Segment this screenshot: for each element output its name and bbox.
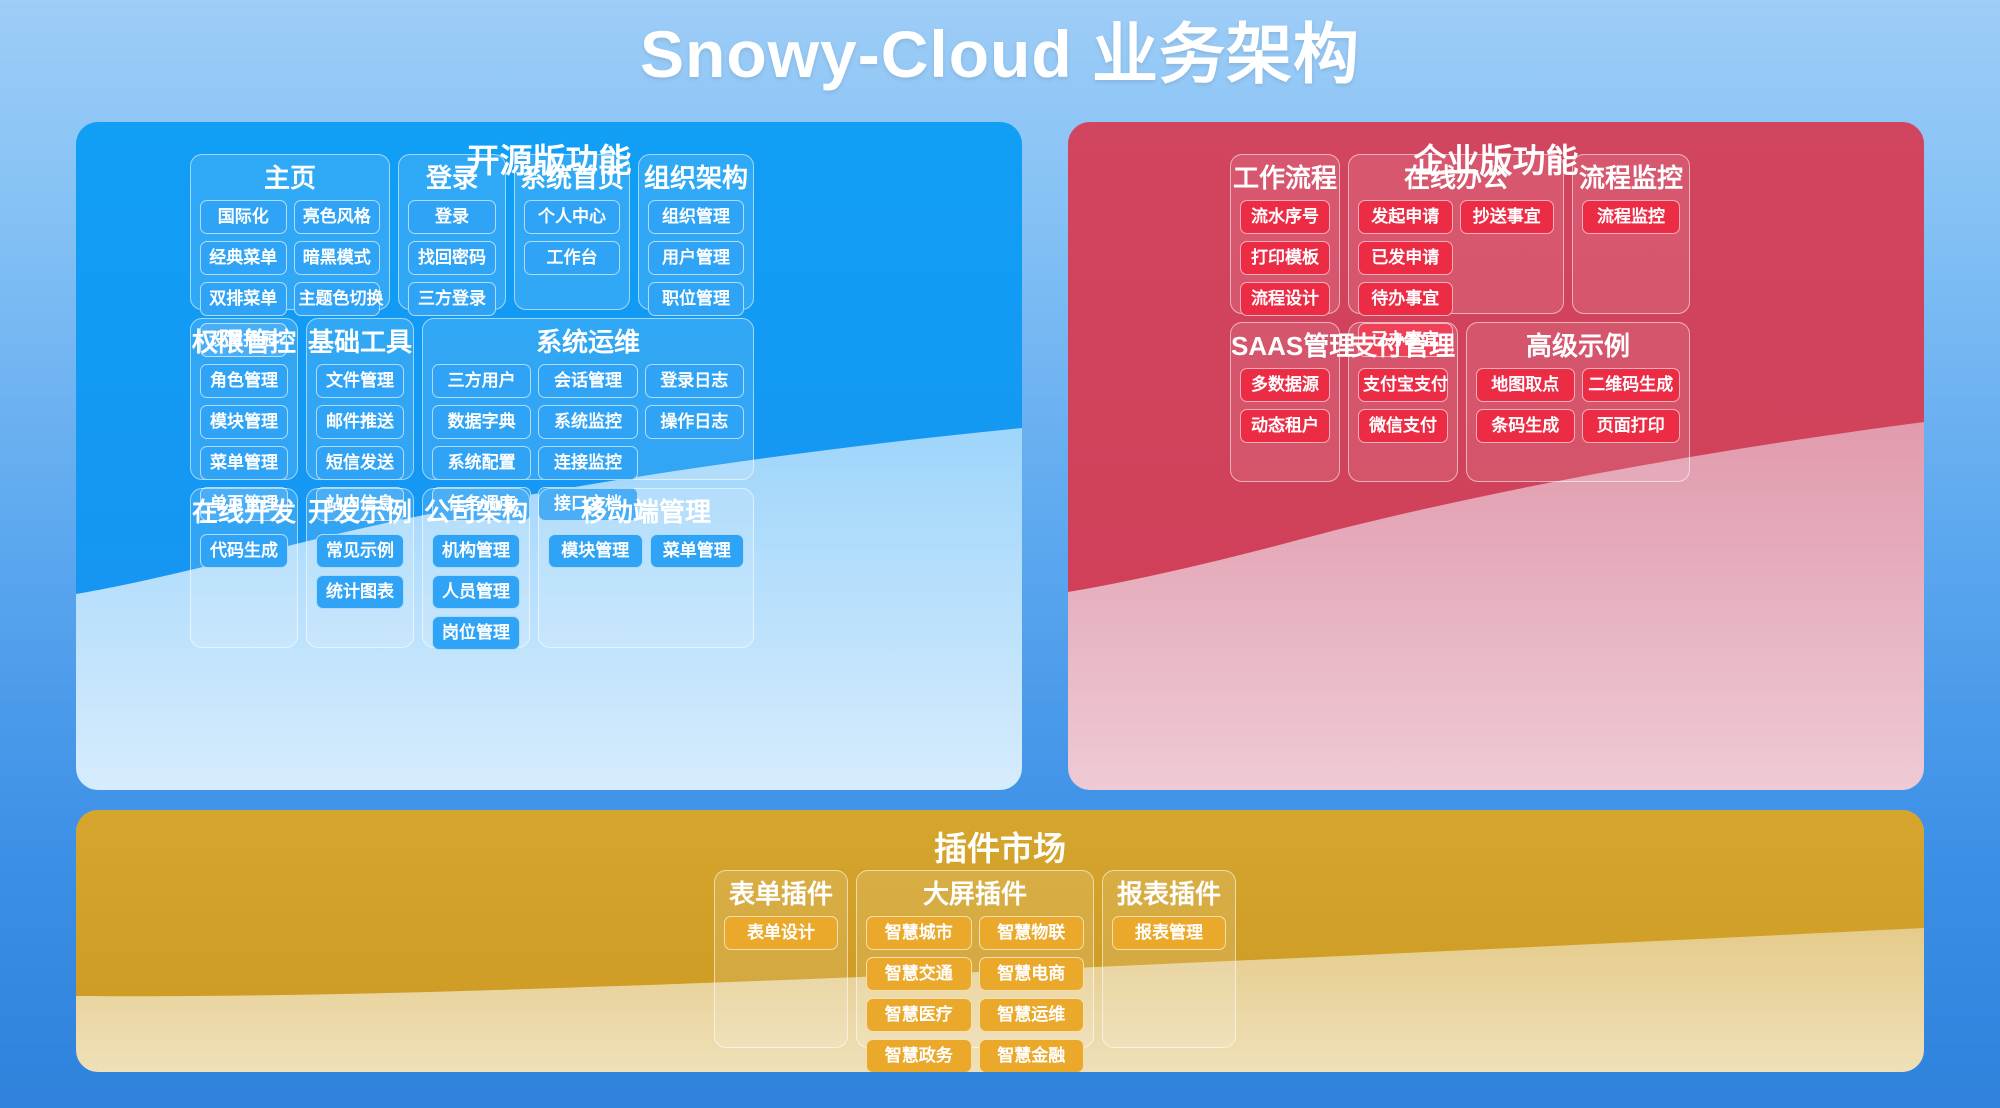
group-title-form-plugin: 表单插件 [715, 871, 847, 916]
feature-item[interactable]: 模块管理 [548, 534, 643, 568]
group-title-online-dev: 在线开发 [191, 489, 297, 534]
feature-item[interactable]: 条码生成 [1476, 409, 1575, 443]
group-title-online-office: 在线办公 [1349, 155, 1563, 200]
feature-item[interactable]: 微信支付 [1358, 409, 1448, 443]
group-title-process-monitor: 流程监控 [1573, 155, 1689, 200]
group-items-mobile-admin: 模块管理菜单管理 [539, 534, 753, 577]
group-card-org-structure: 组织架构 组织管理用户管理职位管理 [638, 154, 754, 310]
group-card-saas: SAAS管理 多数据源动态租户 [1230, 322, 1340, 482]
feature-item[interactable]: 个人中心 [524, 200, 620, 234]
page-title: Snowy-Cloud 业务架构 [0, 8, 2000, 100]
feature-item[interactable]: 统计图表 [316, 575, 404, 609]
group-title-permission: 权限管控 [191, 319, 297, 364]
feature-item[interactable]: 智慧交通 [866, 957, 972, 991]
panel-open-source: 开源版功能 主页 国际化亮色风格经典菜单暗黑模式双排菜单主题色切换设置抽屉 登录… [76, 122, 1022, 790]
feature-item[interactable]: 三方登录 [408, 282, 496, 316]
feature-item[interactable]: 表单设计 [724, 916, 838, 950]
group-title-payment: 支付管理 [1349, 323, 1457, 368]
feature-item[interactable]: 智慧政务 [866, 1039, 972, 1072]
feature-item[interactable]: 三方用户 [432, 364, 531, 398]
group-card-payment: 支付管理 支付宝支付微信支付 [1348, 322, 1458, 482]
feature-item[interactable]: 数据字典 [432, 405, 531, 439]
feature-item[interactable]: 流程监控 [1582, 200, 1680, 234]
feature-item[interactable]: 代码生成 [200, 534, 288, 568]
group-card-basic-tools: 基础工具 文件管理邮件推送短信发送站内信息 [306, 318, 414, 480]
group-card-form-plugin: 表单插件 表单设计 [714, 870, 848, 1048]
feature-item[interactable]: 流水序号 [1240, 200, 1330, 234]
group-card-workflow: 工作流程 流水序号打印模板流程设计 [1230, 154, 1340, 314]
group-title-advanced-demo: 高级示例 [1467, 323, 1689, 368]
group-items-process-monitor: 流程监控 [1573, 200, 1689, 243]
feature-item[interactable]: 智慧医疗 [866, 998, 972, 1032]
group-card-report-plugin: 报表插件 报表管理 [1102, 870, 1236, 1048]
feature-item[interactable]: 连接监控 [538, 446, 637, 480]
feature-item[interactable]: 流程设计 [1240, 282, 1330, 316]
feature-item[interactable]: 国际化 [200, 200, 287, 234]
group-title-org-structure: 组织架构 [639, 155, 753, 200]
group-items-dev-demo: 常见示例统计图表 [307, 534, 413, 618]
feature-item[interactable]: 邮件推送 [316, 405, 404, 439]
feature-item[interactable]: 经典菜单 [200, 241, 287, 275]
group-items-org-structure: 组织管理用户管理职位管理 [639, 200, 753, 325]
group-title-saas: SAAS管理 [1231, 323, 1339, 368]
feature-item[interactable]: 支付宝支付 [1358, 368, 1448, 402]
group-card-advanced-demo: 高级示例 地图取点二维码生成条码生成页面打印 [1466, 322, 1690, 482]
group-card-permission: 权限管控 角色管理模块管理菜单管理单页管理 [190, 318, 298, 480]
group-card-home: 主页 国际化亮色风格经典菜单暗黑模式双排菜单主题色切换设置抽屉 [190, 154, 390, 310]
group-card-online-office: 在线办公 发起申请抄送事宜已发申请.待办事宜.已办事宜. [1348, 154, 1564, 314]
group-card-system-ops: 系统运维 三方用户会话管理登录日志数据字典系统监控操作日志系统配置连接监控.任务… [422, 318, 754, 480]
group-title-workflow: 工作流程 [1231, 155, 1339, 200]
feature-item[interactable]: 智慧运维 [979, 998, 1085, 1032]
feature-item[interactable]: 会话管理 [538, 364, 637, 398]
group-title-company-structure: 公司架构 [423, 489, 529, 534]
group-items-workflow: 流水序号打印模板流程设计 [1231, 200, 1339, 325]
feature-item[interactable]: 报表管理 [1112, 916, 1226, 950]
feature-item[interactable]: 打印模板 [1240, 241, 1330, 275]
group-items-screen-plugin: 智慧城市智慧物联智慧交通智慧电商智慧医疗智慧运维智慧政务智慧金融 [857, 916, 1093, 1072]
group-card-system-home: 系统首页 个人中心工作台 [514, 154, 630, 310]
feature-item[interactable]: 职位管理 [648, 282, 744, 316]
group-items-saas: 多数据源动态租户 [1231, 368, 1339, 452]
feature-item[interactable]: 暗黑模式 [294, 241, 381, 275]
group-title-mobile-admin: 移动端管理 [539, 489, 753, 534]
feature-item[interactable]: 智慧金融 [979, 1039, 1085, 1072]
group-items-advanced-demo: 地图取点二维码生成条码生成页面打印 [1467, 368, 1689, 452]
feature-item[interactable]: 系统配置 [432, 446, 531, 480]
group-title-report-plugin: 报表插件 [1103, 871, 1235, 916]
feature-item[interactable]: 智慧城市 [866, 916, 972, 950]
feature-item[interactable]: 双排菜单 [200, 282, 287, 316]
feature-item[interactable]: 菜单管理 [650, 534, 745, 568]
feature-item[interactable]: 页面打印 [1582, 409, 1681, 443]
panel-plugin-market: 插件市场 表单插件 表单设计 大屏插件 智慧城市智慧物联智慧交通智慧电商智慧医疗… [76, 810, 1924, 1072]
feature-item[interactable]: 多数据源 [1240, 368, 1330, 402]
feature-item[interactable]: 菜单管理 [200, 446, 288, 480]
feature-item[interactable]: 发起申请 [1358, 200, 1453, 234]
group-items-payment: 支付宝支付微信支付 [1349, 368, 1457, 452]
feature-item[interactable]: 找回密码 [408, 241, 496, 275]
group-card-online-dev: 在线开发 代码生成 [190, 488, 298, 648]
group-card-dev-demo: 开发示例 常见示例统计图表 [306, 488, 414, 648]
feature-item[interactable]: 登录 [408, 200, 496, 234]
group-items-company-structure: 机构管理人员管理岗位管理 [423, 534, 529, 659]
group-items-online-dev: 代码生成 [191, 534, 297, 577]
feature-item[interactable]: 动态租户 [1240, 409, 1330, 443]
feature-item[interactable]: 模块管理 [200, 405, 288, 439]
feature-item[interactable]: 二维码生成 [1582, 368, 1681, 402]
feature-item[interactable]: 亮色风格 [294, 200, 381, 234]
group-title-basic-tools: 基础工具 [307, 319, 413, 364]
feature-item[interactable]: 主题色切换 [294, 282, 381, 316]
feature-item[interactable]: 机构管理 [432, 534, 520, 568]
group-card-mobile-admin: 移动端管理 模块管理菜单管理 [538, 488, 754, 648]
group-items-login: 登录找回密码三方登录 [399, 200, 505, 325]
group-title-screen-plugin: 大屏插件 [857, 871, 1093, 916]
group-items-report-plugin: 报表管理 [1103, 916, 1235, 959]
feature-item[interactable]: 用户管理 [648, 241, 744, 275]
feature-item[interactable]: 登录日志 [645, 364, 744, 398]
feature-item[interactable]: 地图取点 [1476, 368, 1575, 402]
group-title-system-ops: 系统运维 [423, 319, 753, 364]
feature-item[interactable]: 组织管理 [648, 200, 744, 234]
feature-item[interactable]: 待办事宜 [1358, 282, 1453, 316]
panel-plugin-market-title: 插件市场 [76, 810, 1924, 865]
group-card-company-structure: 公司架构 机构管理人员管理岗位管理 [422, 488, 530, 648]
feature-item[interactable]: 智慧物联 [979, 916, 1085, 950]
feature-item[interactable]: 短信发送 [316, 446, 404, 480]
feature-item[interactable]: 岗位管理 [432, 616, 520, 650]
feature-item[interactable]: 操作日志 [645, 405, 744, 439]
group-title-home: 主页 [191, 155, 389, 200]
feature-item[interactable]: 已发申请 [1358, 241, 1453, 275]
feature-item[interactable]: 角色管理 [200, 364, 288, 398]
group-card-screen-plugin: 大屏插件 智慧城市智慧物联智慧交通智慧电商智慧医疗智慧运维智慧政务智慧金融 [856, 870, 1094, 1048]
feature-item[interactable]: 智慧电商 [979, 957, 1085, 991]
group-title-dev-demo: 开发示例 [307, 489, 413, 534]
feature-item[interactable]: 文件管理 [316, 364, 404, 398]
feature-item[interactable]: 抄送事宜 [1460, 200, 1555, 234]
feature-item[interactable]: 人员管理 [432, 575, 520, 609]
feature-item[interactable]: 系统监控 [538, 405, 637, 439]
group-card-process-monitor: 流程监控 流程监控 [1572, 154, 1690, 314]
feature-item[interactable]: 工作台 [524, 241, 620, 275]
group-items-system-home: 个人中心工作台 [515, 200, 629, 284]
group-items-form-plugin: 表单设计 [715, 916, 847, 959]
group-card-login: 登录 登录找回密码三方登录 [398, 154, 506, 310]
panel-enterprise: 企业版功能 工作流程 流水序号打印模板流程设计 在线办公 发起申请抄送事宜已发申… [1068, 122, 1924, 790]
group-title-system-home: 系统首页 [515, 155, 629, 200]
group-title-login: 登录 [399, 155, 505, 200]
feature-item[interactable]: 常见示例 [316, 534, 404, 568]
